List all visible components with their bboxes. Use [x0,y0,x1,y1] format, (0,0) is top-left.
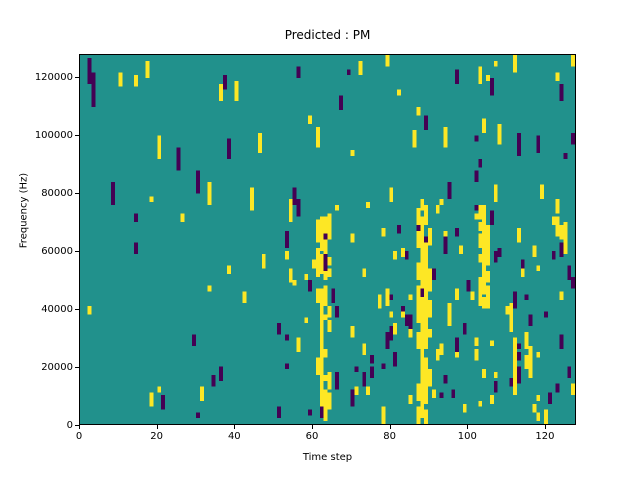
x-tick-label: 80 [370,431,410,442]
y-tick-label: 80000 [41,188,73,199]
x-tick-label: 120 [525,431,565,442]
x-tick-mark [312,425,313,429]
heatmap-plot-area [79,54,576,425]
y-tick-mark [75,193,79,194]
x-tick-mark [157,425,158,429]
x-tick-label: 20 [137,431,177,442]
y-tick-label: 0 [67,420,73,431]
matplotlib-figure: Predicted : PM 0200004000060000800001000… [0,0,640,480]
y-tick-mark [75,367,79,368]
x-tick-mark [545,425,546,429]
y-tick-mark [75,135,79,136]
y-tick-label: 60000 [41,246,73,257]
x-tick-label: 0 [59,431,99,442]
y-tick-label: 120000 [35,72,73,83]
y-tick-mark [75,251,79,252]
x-tick-mark [467,425,468,429]
y-tick-mark [75,309,79,310]
y-tick-label: 100000 [35,130,73,141]
x-axis-label: Time step [79,452,576,463]
x-tick-label: 100 [447,431,487,442]
y-axis-label: Frequency (Hz) [19,151,30,271]
chart-title: Predicted : PM [79,28,576,42]
y-tick-label: 20000 [41,362,73,373]
y-tick-label: 40000 [41,304,73,315]
x-tick-label: 60 [292,431,332,442]
x-tick-mark [79,425,80,429]
x-tick-mark [390,425,391,429]
y-tick-mark [75,77,79,78]
x-tick-label: 40 [214,431,254,442]
heatmap-image [80,55,575,424]
x-tick-mark [234,425,235,429]
